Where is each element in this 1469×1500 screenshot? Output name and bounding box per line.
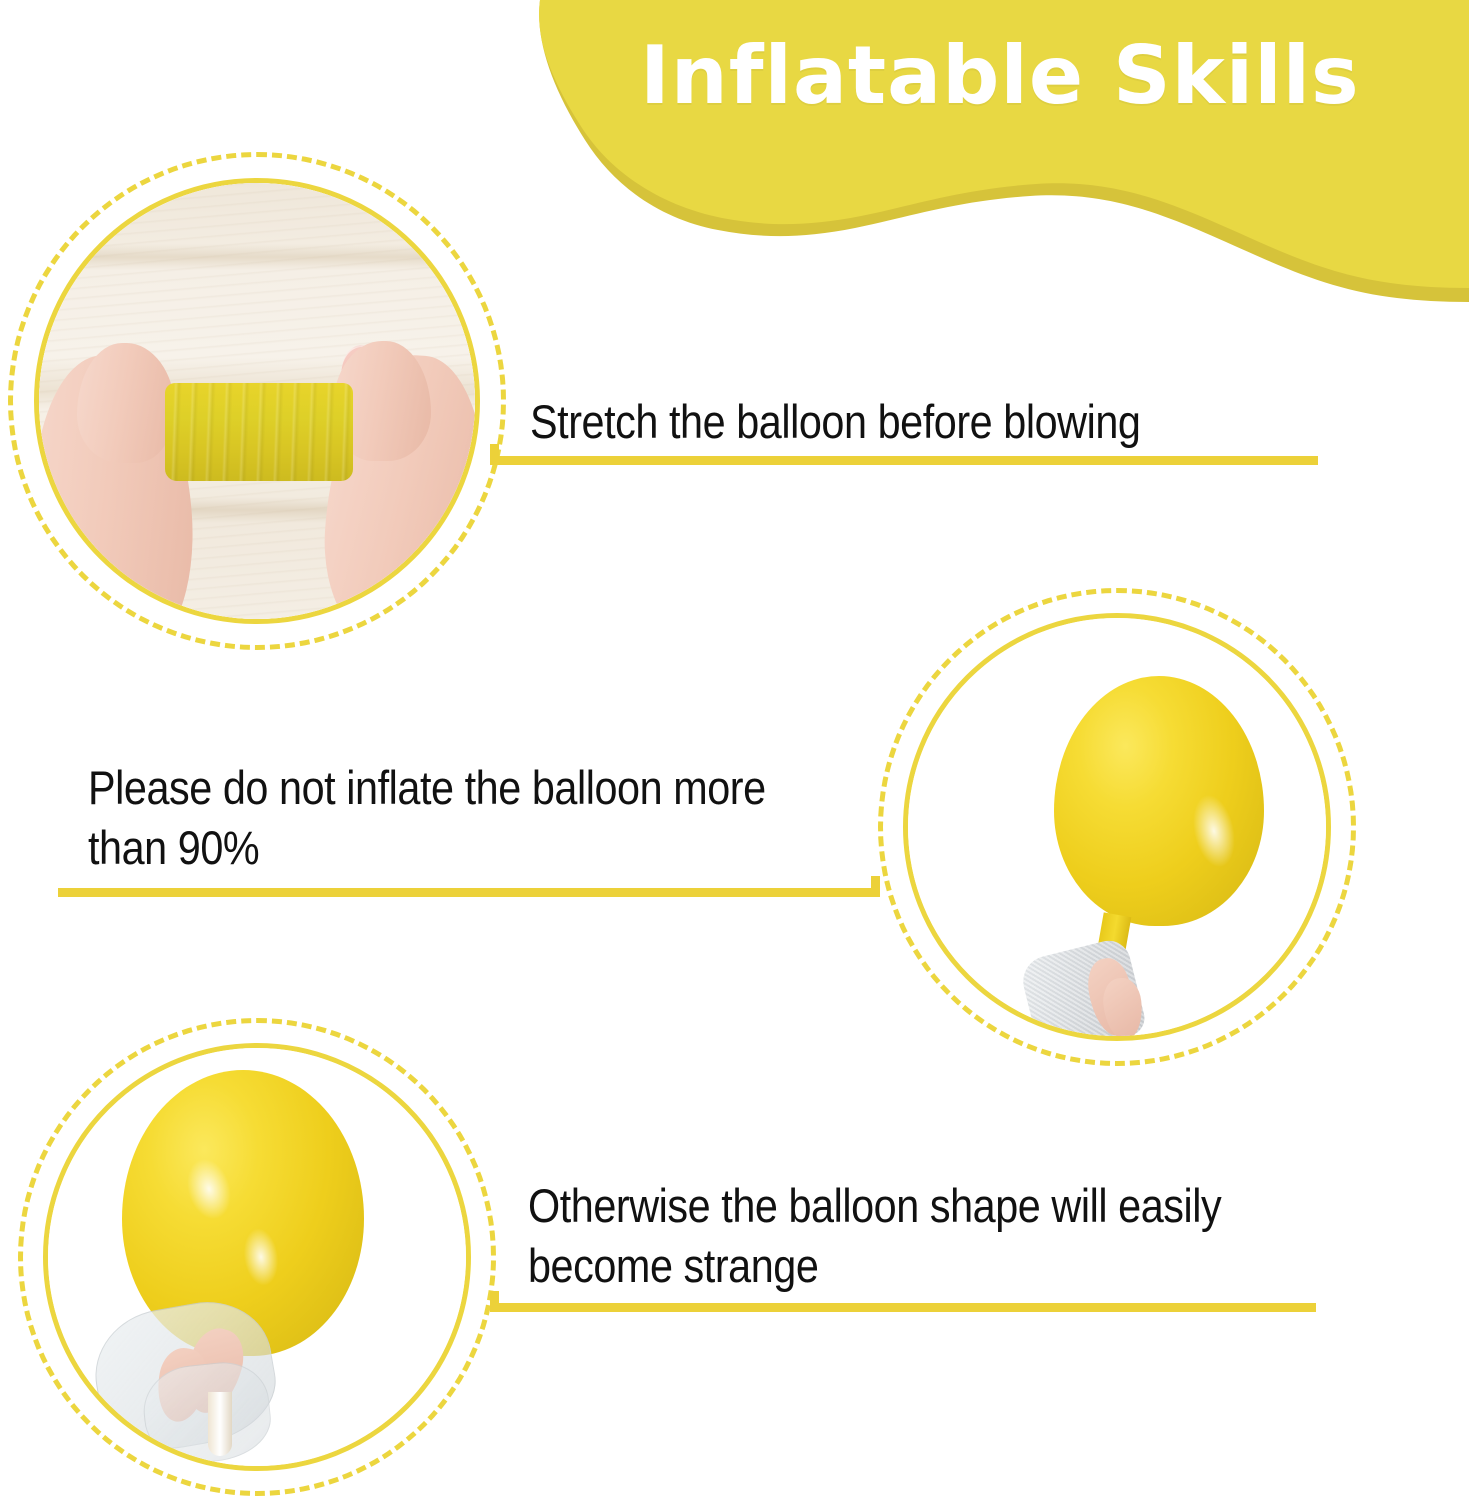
underline-bar-2 (58, 888, 880, 897)
caption-step-3: Otherwise the balloon shape will easily … (528, 1176, 1320, 1296)
balloon-knot (208, 1392, 232, 1456)
caption-step-3-line-2: become strange (528, 1236, 1320, 1296)
underline-bar-1 (490, 456, 1318, 465)
page-title: Inflatable Skills (640, 36, 1460, 116)
caption-step-1-line-1: Stretch the balloon before blowing (530, 392, 1322, 452)
underline-tick-2 (871, 876, 880, 890)
photo-circle-inflated-balloon (878, 588, 1356, 1066)
caption-step-3-line-1: Otherwise the balloon shape will easily (528, 1176, 1320, 1236)
balloon-inflated (1054, 676, 1264, 926)
photo-stretch-balloon (39, 183, 475, 619)
photo-overinflated-balloon (48, 1048, 466, 1466)
underline-bar-3 (490, 1303, 1316, 1312)
underline-tick-1 (490, 444, 499, 458)
underline-tick-3 (490, 1291, 499, 1305)
caption-step-2-line-1: Please do not inflate the balloon more (88, 758, 898, 818)
photo-circle-stretch-balloon (8, 152, 506, 650)
photo-circle-overinflated-balloon (18, 1018, 496, 1496)
stretched-balloon-latex (165, 383, 353, 481)
photo-inflated-balloon (908, 618, 1326, 1036)
caption-step-1: Stretch the balloon before blowing (530, 392, 1322, 452)
infographic-page: Inflatable Skills Stretch the balloon be… (0, 0, 1469, 1500)
caption-step-2-line-2: than 90% (88, 818, 898, 878)
caption-step-2: Please do not inflate the balloon more t… (88, 758, 898, 878)
